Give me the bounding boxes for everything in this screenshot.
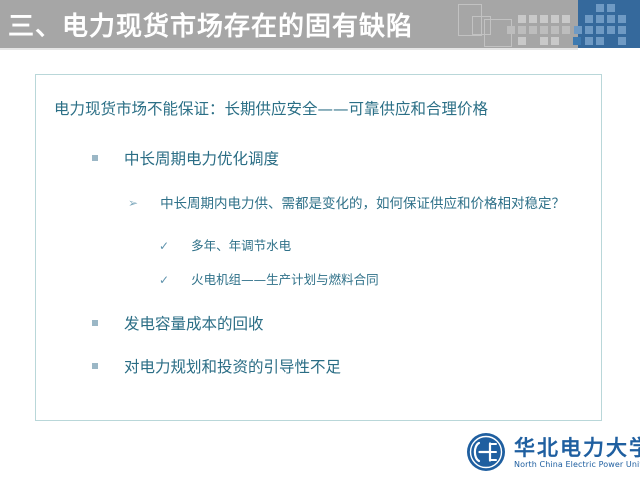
deco-dot-icon: [518, 37, 526, 45]
page-title: 三、电力现货市场存在的固有缺陷: [8, 6, 413, 43]
deco-dot-icon: [573, 37, 581, 45]
deco-dot-icon: [585, 26, 593, 34]
logo-name-cn: 华北电力大学: [514, 432, 640, 462]
list-item-label: 中长周期内电力供、需都是变化的，如何保证供应和价格相对稳定？: [160, 196, 565, 212]
square-bullet-icon: [92, 320, 98, 326]
deco-dot-icon: [607, 4, 615, 12]
list-item-label: 中长周期电力优化调度: [124, 150, 279, 168]
header-divider: [0, 48, 578, 50]
list-item-label: 多年、年调节水电: [191, 238, 291, 253]
deco-dot-icon: [562, 15, 570, 23]
list-item: ➢中长周期内电力供、需都是变化的，如何保证供应和价格相对稳定？: [128, 192, 565, 212]
deco-dot-icon: [585, 15, 593, 23]
deco-dot-icon: [607, 15, 615, 23]
content-box: 电力现货市场不能保证：长期供应安全——可靠供应和合理价格 中长周期电力优化调度 …: [35, 74, 602, 421]
deco-dot-icon: [529, 15, 537, 23]
deco-dot-icon: [596, 26, 604, 34]
check-icon: ✓: [159, 239, 169, 253]
deco-dot-icon: [618, 15, 626, 23]
logo-name-en: North China Electric Power University: [514, 460, 640, 469]
deco-dot-icon: [618, 37, 626, 45]
check-icon: ✓: [159, 273, 169, 287]
deco-dot-icon: [551, 37, 559, 45]
list-item-label: 对电力规划和投资的引导性不足: [124, 358, 341, 376]
deco-dot-icon: [540, 15, 548, 23]
lead-statement: 电力现货市场不能保证：长期供应安全——可靠供应和合理价格: [54, 97, 488, 119]
square-bullet-icon: [92, 155, 98, 161]
deco-dot-icon: [518, 15, 526, 23]
list-item: ✓多年、年调节水电: [159, 235, 291, 254]
deco-dot-icon: [551, 15, 559, 23]
deco-dot-icon: [562, 26, 570, 34]
deco-dot-icon: [596, 37, 604, 45]
list-item-label: 火电机组——生产计划与燃料合同: [191, 272, 379, 287]
deco-dot-icon: [585, 37, 593, 45]
list-item: ✓火电机组——生产计划与燃料合同: [159, 269, 379, 288]
list-item: 对电力规划和投资的引导性不足: [92, 355, 341, 377]
university-logo: 华北电力大学 North China Electric Power Univer…: [466, 430, 636, 476]
square-bullet-icon: [92, 363, 98, 369]
deco-dot-icon: [596, 4, 604, 12]
deco-dot-icon: [607, 26, 615, 34]
deco-dot-icon: [551, 26, 559, 34]
list-item: 发电容量成本的回收: [92, 312, 264, 334]
deco-dot-icon: [529, 26, 537, 34]
list-item-label: 发电容量成本的回收: [124, 315, 264, 333]
deco-dot-icon: [540, 26, 548, 34]
deco-dot-icon: [540, 37, 548, 45]
deco-dot-icon: [518, 26, 526, 34]
slide-header: 三、电力现货市场存在的固有缺陷: [0, 0, 640, 48]
deco-dot-icon: [574, 26, 582, 34]
deco-dot-icon: [618, 26, 626, 34]
ncepu-emblem-icon: [466, 432, 506, 472]
deco-dot-icon: [507, 26, 515, 34]
chevron-right-icon: ➢: [128, 196, 138, 210]
list-item: 中长周期电力优化调度: [92, 147, 279, 169]
deco-dot-icon: [596, 15, 604, 23]
